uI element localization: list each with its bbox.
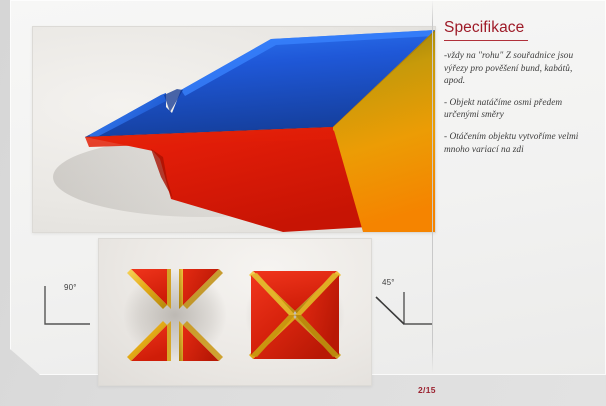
slide-canvas: 90° 45° Specifikace -vždy na "rohu" Z so… (0, 0, 606, 406)
annotation-angle-90: 90° (36, 282, 98, 334)
wedge-ll-gold-side (167, 321, 171, 361)
angle-90-label: 90° (64, 283, 77, 292)
object-variants-illustration (99, 239, 371, 385)
wedge-ur-gold (179, 269, 183, 309)
column-divider (432, 0, 433, 373)
figure-perspective-render (32, 26, 436, 233)
spec-paragraph-2: - Objekt natáčíme osmi předem určenými s… (444, 97, 594, 122)
page-number: 2/15 (418, 385, 436, 395)
figure-object-variants (98, 238, 372, 386)
page-title: Specifikace (444, 19, 524, 37)
annotation-angle-45: 45° (372, 278, 434, 334)
spec-paragraph-1: -vždy na "rohu" Z souřadnice jsou výřezy… (444, 50, 594, 88)
specification-body: -vždy na "rohu" Z souřadnice jsou výřezy… (444, 50, 594, 165)
wedge-lr-gold (179, 321, 183, 361)
left-content-column: 90° 45° (10, 0, 432, 375)
perspective-render-illustration (33, 27, 435, 232)
angle-45-label: 45° (382, 278, 395, 287)
spec-paragraph-3: - Otáčením objektu vytvoříme velmi mnoho… (444, 131, 594, 156)
object-x-orientation (245, 269, 345, 361)
specification-sidebar: Specifikace -vždy na "rohu" Z souřadnice… (441, 0, 601, 375)
object-plus-orientation (123, 269, 227, 361)
page-title-underline (444, 40, 528, 41)
wedge-ul-gold-side (167, 269, 171, 309)
